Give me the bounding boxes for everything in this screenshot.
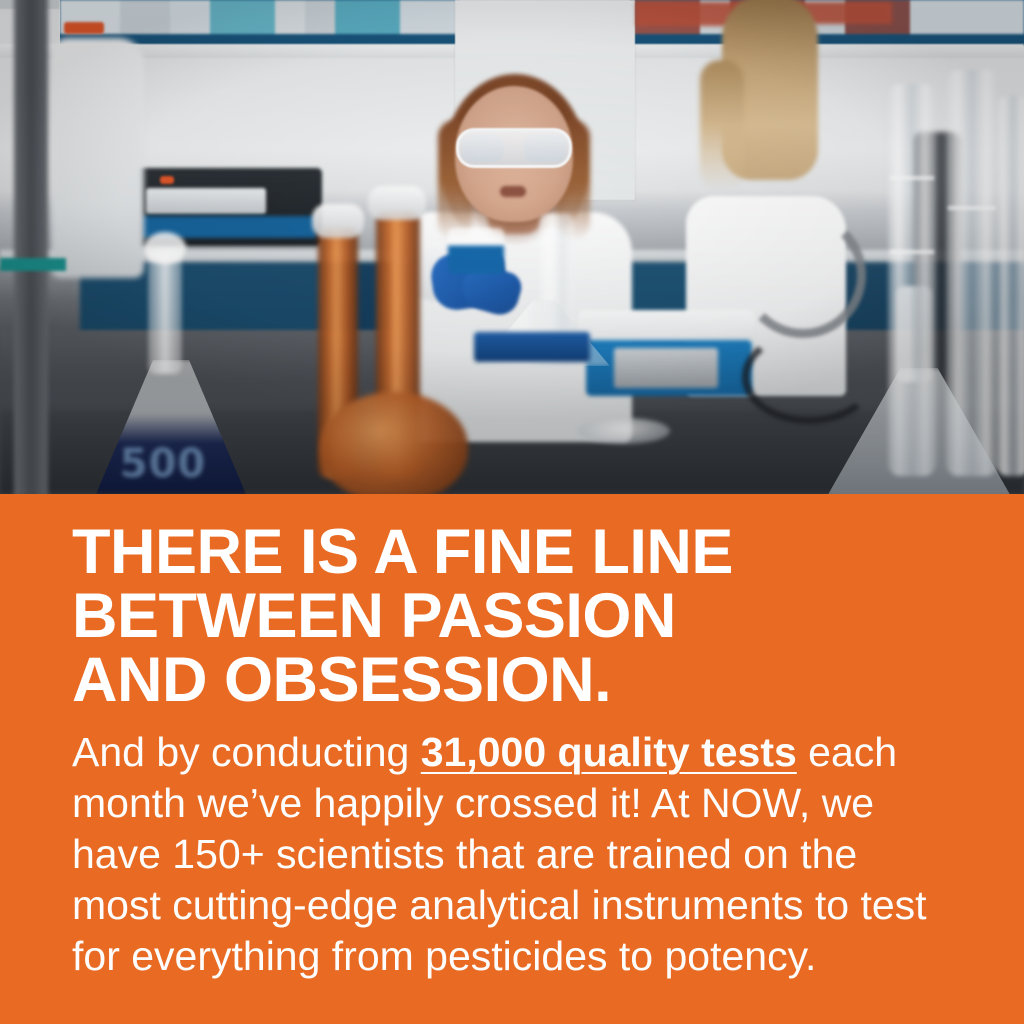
scientist-three-labcoat <box>52 38 144 278</box>
headline: THERE IS A FINE LINE BETWEEN PASSION AND… <box>72 520 972 712</box>
volumetric-flask-neck <box>148 250 182 374</box>
cylinder-graduation-mark-a <box>890 176 934 180</box>
foreground-flask-right-neck <box>896 286 932 382</box>
instrument-led <box>160 176 174 184</box>
volumetric-flask-500-label: 500 <box>108 440 218 488</box>
amber-column-left-cap <box>312 204 364 238</box>
scientist-one-mouth <box>500 186 526 197</box>
analytical-balance <box>578 310 754 344</box>
safety-goggles <box>456 128 572 168</box>
body-lead: And by conducting <box>72 729 421 775</box>
body-emphasis: 31,000 quality tests <box>421 729 797 775</box>
left-dark-post <box>14 0 48 494</box>
amber-column-right-cap <box>368 186 426 220</box>
instrument-panel <box>146 188 266 214</box>
erlenmeyer-blue-liquid <box>474 332 590 362</box>
shelf-supplies-left <box>60 0 460 34</box>
scientist-two-hair-strand <box>700 60 744 190</box>
lab-hose <box>740 212 866 338</box>
watch-glass <box>578 418 670 444</box>
graduated-cylinder-three <box>996 96 1024 476</box>
amber-flask-bulb <box>320 392 468 494</box>
cylinder-graduation-mark-b <box>890 250 934 254</box>
lab-photo: 500 <box>0 0 1024 494</box>
blue-reagent-jar <box>448 228 504 274</box>
orange-text-panel: THERE IS A FINE LINE BETWEEN PASSION AND… <box>0 494 1024 1024</box>
left-post-teal-band <box>0 258 66 271</box>
promo-canvas: 500 THERE IS A FINE LINE BETWEEN PASSION… <box>0 0 1024 1024</box>
cylinder-graduation-mark-c <box>948 206 996 210</box>
body-copy: And by conducting 31,000 quality tests e… <box>72 727 952 982</box>
blue-instrument-faceplate <box>614 348 718 388</box>
instrument-cable <box>742 330 876 424</box>
shelf-red-label <box>64 22 104 34</box>
